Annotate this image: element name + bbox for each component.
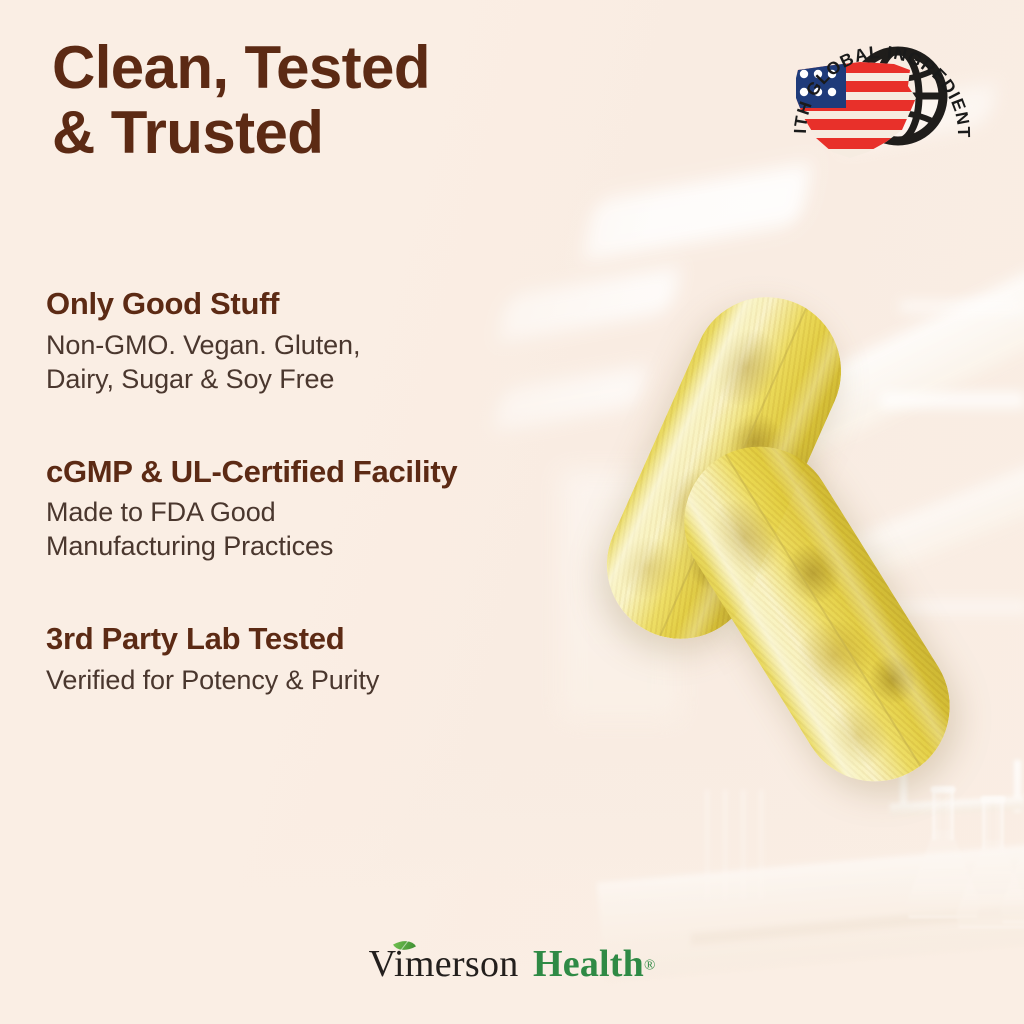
brand-name-vimerson: Vimerson: [369, 943, 519, 985]
feature-title: 3rd Party Lab Tested: [46, 621, 646, 657]
feature-title: Only Good Stuff: [46, 286, 646, 322]
feature-title: cGMP & UL-Certified Facility: [46, 454, 646, 490]
feature-item-lab-tested: 3rd Party Lab Tested Verified for Potenc…: [46, 621, 646, 697]
headline-line-1: Clean, Tested: [52, 36, 572, 101]
page-title: Clean, Tested & Trusted: [52, 36, 572, 166]
feature-description: Verified for Potency & Purity: [46, 663, 646, 697]
registered-trademark-symbol: ®: [644, 958, 655, 974]
brand-logo-inner: Vimerson Health®: [369, 942, 656, 986]
feature-description: Non-GMO. Vegan. Gluten, Dairy, Sugar & S…: [46, 328, 646, 396]
with-global-ingredients-badge: WITH GLOBAL INGREDIENTS: [790, 26, 980, 201]
feature-item-cgmp-facility: cGMP & UL-Certified Facility Made to FDA…: [46, 454, 646, 564]
feature-description-line: Dairy, Sugar & Soy Free: [46, 362, 646, 396]
brand-name-health: Health: [533, 943, 644, 985]
headline-line-2: & Trusted: [52, 101, 572, 166]
feature-description-line: Manufacturing Practices: [46, 529, 646, 563]
promo-image-canvas: Clean, Tested & Trusted Only Good Stuff …: [0, 0, 1024, 1024]
feature-description-line: Verified for Potency & Purity: [46, 663, 646, 697]
feature-description-line: Made to FDA Good: [46, 495, 646, 529]
brand-logo: Vimerson Health®: [0, 942, 1024, 986]
feature-list: Only Good Stuff Non-GMO. Vegan. Gluten, …: [46, 286, 646, 697]
feature-description: Made to FDA Good Manufacturing Practices: [46, 495, 646, 563]
feature-description-line: Non-GMO. Vegan. Gluten,: [46, 328, 646, 362]
feature-item-only-good-stuff: Only Good Stuff Non-GMO. Vegan. Gluten, …: [46, 286, 646, 396]
